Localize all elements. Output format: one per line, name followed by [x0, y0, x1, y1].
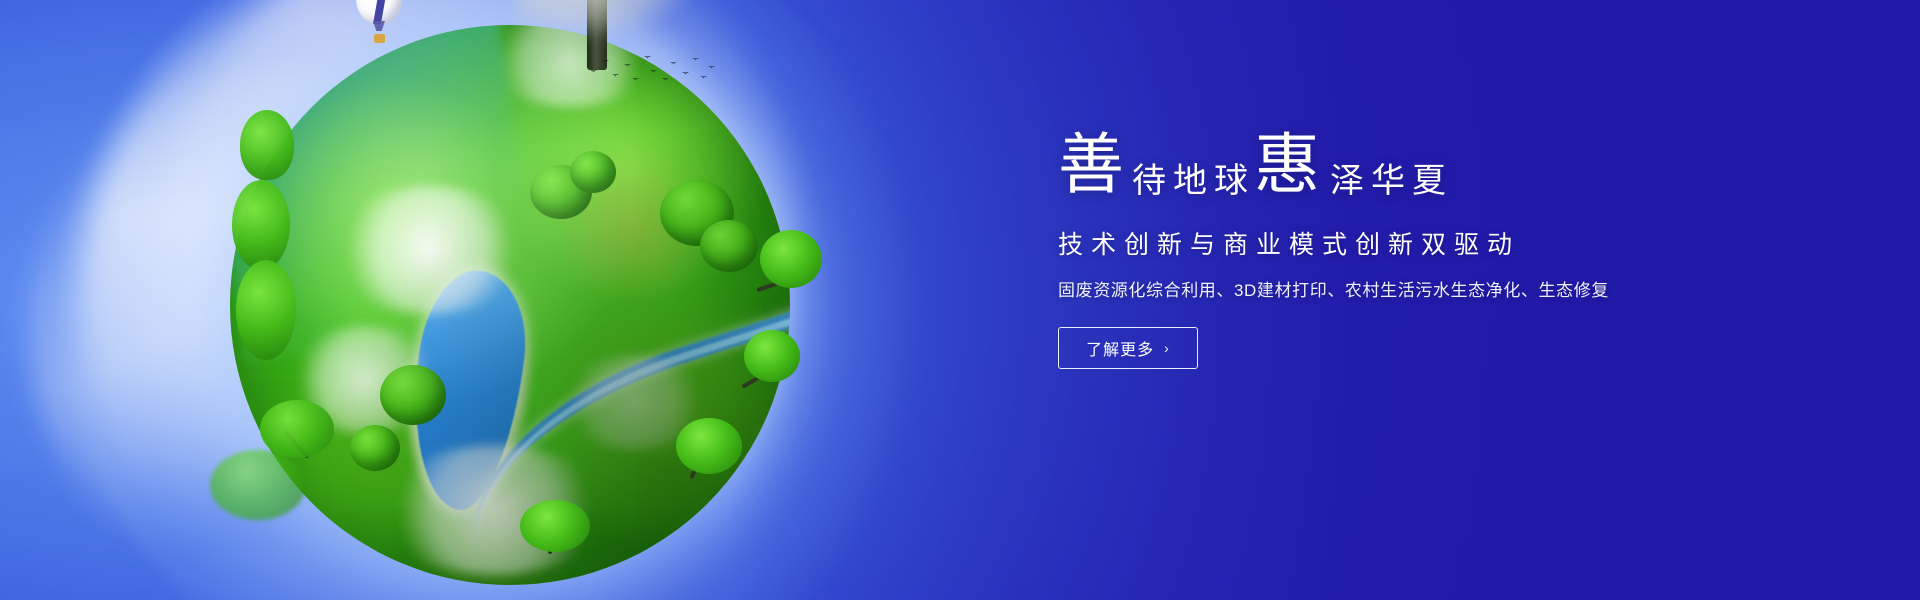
headline-phrase-2: 泽华夏: [1330, 164, 1453, 198]
balloon-basket: [374, 34, 385, 43]
tree-canopy-icon: [700, 220, 758, 272]
globe-illustration: [120, 0, 880, 600]
tree-canopy-icon: [530, 165, 592, 219]
learn-more-button[interactable]: 了解更多 ›: [1058, 327, 1198, 369]
hero-banner: 善 待地球 惠 泽华夏 技术创新与商业模式创新双驱动 固废资源化综合利用、3D建…: [0, 0, 1920, 600]
balloon-envelope: [356, 0, 402, 24]
lake-icon: [401, 264, 534, 515]
tree-canopy-icon: [660, 180, 734, 246]
green-planet-icon: [230, 25, 790, 585]
hot-air-balloon-icon: [356, 0, 402, 50]
headline-phrase-1: 待地球: [1132, 164, 1255, 198]
mist-plume: [515, 0, 695, 40]
headline-char-2: 惠: [1254, 132, 1320, 198]
terrain-patch: [560, 145, 710, 315]
description: 固废资源化综合利用、3D建材打印、农村生活污水生态净化、生态修复: [1058, 281, 1818, 301]
chevron-right-icon: ›: [1164, 341, 1170, 355]
learn-more-label: 了解更多: [1086, 336, 1154, 360]
tree-canopy-icon: [570, 151, 616, 193]
cloud-icon: [335, 185, 525, 315]
lake-shoreline: [391, 256, 546, 525]
balloon-neck: [373, 21, 385, 31]
headline-char-1: 善: [1058, 132, 1124, 198]
tree-canopy-icon: [380, 365, 446, 425]
headline: 善 待地球 惠 泽华夏: [1058, 126, 1818, 218]
hero-content: 善 待地球 惠 泽华夏 技术创新与商业模式创新双驱动 固废资源化综合利用、3D建…: [1058, 126, 1818, 369]
birds-flock-icon: [588, 48, 718, 92]
tree-canopy-icon: [350, 425, 400, 471]
subtitle: 技术创新与商业模式创新双驱动: [1058, 232, 1818, 260]
